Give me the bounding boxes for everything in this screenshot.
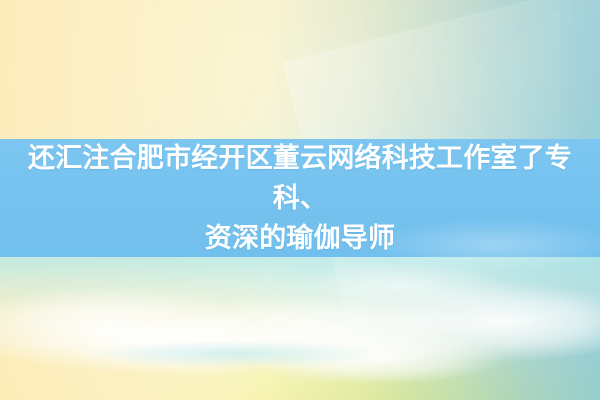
title-band: 还汇注合肥市经开区董云网络科技工作室了专科、 资深的瑜伽导师 (0, 139, 600, 257)
banner-image: 还汇注合肥市经开区董云网络科技工作室了专科、 资深的瑜伽导师 (0, 0, 600, 400)
cloud-wisp (86, 340, 386, 368)
banner-headline: 还汇注合肥市经开区董云网络科技工作室了专科、 资深的瑜伽导师 (6, 138, 594, 258)
